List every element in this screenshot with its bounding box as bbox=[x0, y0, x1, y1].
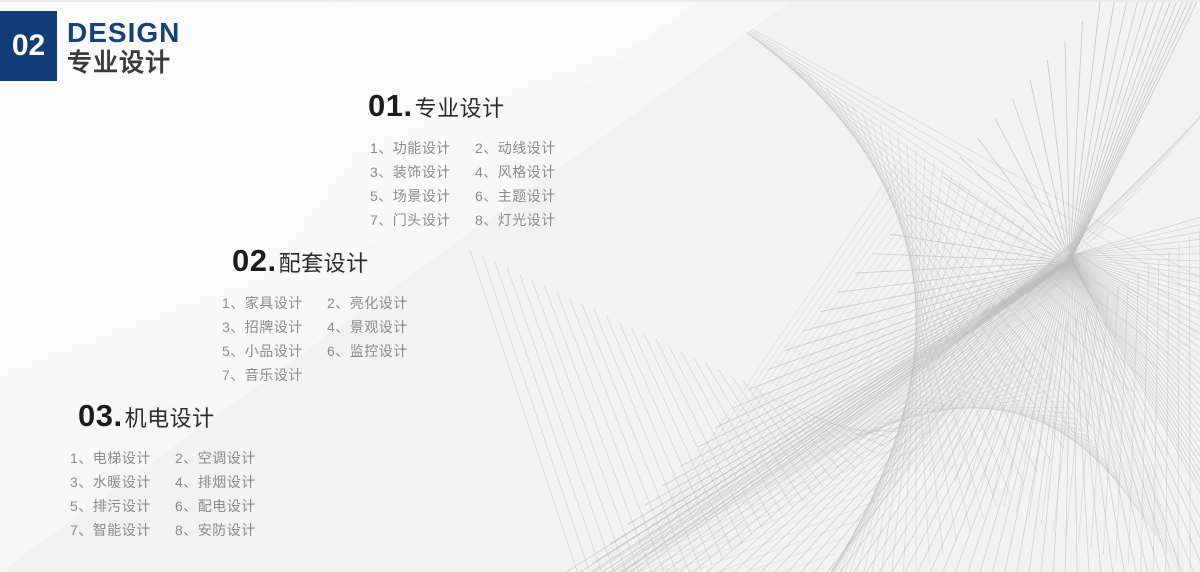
list-item: 3、装饰设计 bbox=[370, 162, 475, 182]
slide-header: 02 DESIGN 专业设计 bbox=[0, 11, 180, 81]
list-row: 3、水暖设计 4、排烟设计 bbox=[70, 470, 256, 494]
list-item: 4、排烟设计 bbox=[175, 472, 256, 492]
content-block-01-heading: 01. 专业设计 bbox=[368, 88, 556, 124]
content-block-01-list: 1、功能设计 2、动线设计 3、装饰设计 4、风格设计 5、场景设计 6、主题设… bbox=[370, 136, 556, 232]
list-item: 5、排污设计 bbox=[70, 496, 175, 516]
list-item: 6、配电设计 bbox=[175, 496, 256, 516]
content-block-03: 03. 机电设计 1、电梯设计 2、空调设计 3、水暖设计 4、排烟设计 5、排… bbox=[78, 398, 256, 542]
list-row: 7、音乐设计 bbox=[222, 363, 408, 387]
content-block-02-title: 配套设计 bbox=[279, 246, 369, 278]
list-item: 6、主题设计 bbox=[475, 186, 556, 206]
list-item: 4、景观设计 bbox=[327, 317, 408, 337]
content-block-03-heading: 03. 机电设计 bbox=[78, 398, 256, 434]
list-row: 1、功能设计 2、动线设计 bbox=[370, 136, 556, 160]
list-item: 4、风格设计 bbox=[475, 162, 556, 182]
list-item: 2、亮化设计 bbox=[327, 293, 408, 313]
content-block-01-title: 专业设计 bbox=[415, 91, 505, 123]
header-text-group: DESIGN 专业设计 bbox=[67, 11, 180, 77]
list-row: 7、门头设计 8、灯光设计 bbox=[370, 208, 556, 232]
list-item: 5、小品设计 bbox=[222, 341, 327, 361]
list-row: 3、装饰设计 4、风格设计 bbox=[370, 160, 556, 184]
content-block-03-title: 机电设计 bbox=[125, 401, 215, 433]
header-title-english: DESIGN bbox=[67, 18, 180, 47]
list-row: 7、智能设计 8、安防设计 bbox=[70, 518, 256, 542]
content-block-03-list: 1、电梯设计 2、空调设计 3、水暖设计 4、排烟设计 5、排污设计 6、配电设… bbox=[70, 446, 256, 542]
list-item: 2、动线设计 bbox=[475, 138, 556, 158]
top-hairline-divider bbox=[0, 0, 1200, 2]
list-item: 1、家具设计 bbox=[222, 293, 327, 313]
list-item: 3、水暖设计 bbox=[70, 472, 175, 492]
list-item: 8、灯光设计 bbox=[475, 210, 556, 230]
list-row: 1、家具设计 2、亮化设计 bbox=[222, 291, 408, 315]
content-block-02: 02. 配套设计 1、家具设计 2、亮化设计 3、招牌设计 4、景观设计 5、小… bbox=[232, 243, 408, 387]
header-title-chinese: 专业设计 bbox=[67, 50, 180, 76]
content-block-02-number: 02. bbox=[232, 243, 277, 279]
content-block-01-number: 01. bbox=[368, 88, 413, 124]
list-item: 6、监控设计 bbox=[327, 341, 408, 361]
list-item: 1、电梯设计 bbox=[70, 448, 175, 468]
list-row: 5、小品设计 6、监控设计 bbox=[222, 339, 408, 363]
list-row: 1、电梯设计 2、空调设计 bbox=[70, 446, 256, 470]
list-row: 5、排污设计 6、配电设计 bbox=[70, 494, 256, 518]
content-block-03-number: 03. bbox=[78, 398, 123, 434]
list-row: 5、场景设计 6、主题设计 bbox=[370, 184, 556, 208]
content-block-01: 01. 专业设计 1、功能设计 2、动线设计 3、装饰设计 4、风格设计 5、场… bbox=[368, 88, 556, 232]
list-item: 2、空调设计 bbox=[175, 448, 256, 468]
list-item: 5、场景设计 bbox=[370, 186, 475, 206]
slide-canvas: 02 DESIGN 专业设计 01. 专业设计 1、功能设计 2、动线设计 3、… bbox=[0, 0, 1200, 572]
list-item: 3、招牌设计 bbox=[222, 317, 327, 337]
list-item: 7、门头设计 bbox=[370, 210, 475, 230]
list-item: 7、智能设计 bbox=[70, 520, 175, 540]
list-row: 3、招牌设计 4、景观设计 bbox=[222, 315, 408, 339]
list-item: 1、功能设计 bbox=[370, 138, 475, 158]
section-number-badge: 02 bbox=[0, 11, 57, 81]
content-block-02-list: 1、家具设计 2、亮化设计 3、招牌设计 4、景观设计 5、小品设计 6、监控设… bbox=[222, 291, 408, 387]
list-item: 7、音乐设计 bbox=[222, 365, 327, 385]
list-item: 8、安防设计 bbox=[175, 520, 256, 540]
content-block-02-heading: 02. 配套设计 bbox=[232, 243, 408, 279]
